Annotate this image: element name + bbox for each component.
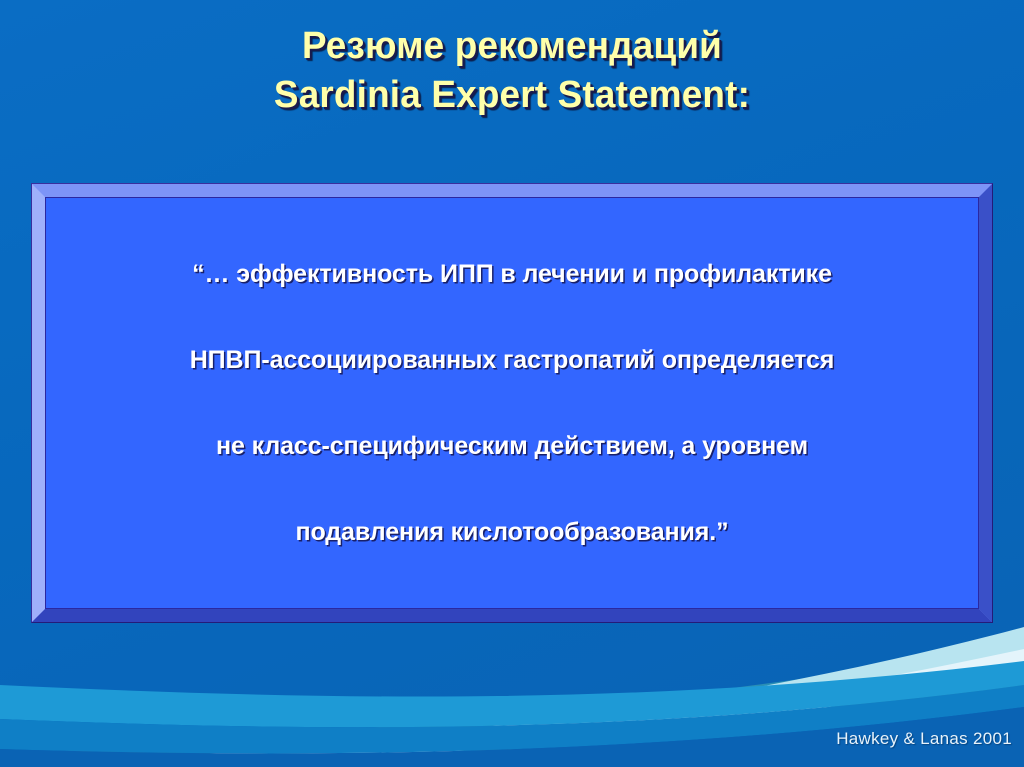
title-line-2: Sardinia Expert Statement: [15, 71, 1008, 120]
title-line-1: Резюме рекомендаций [15, 22, 1008, 71]
presentation-slide: Резюме рекомендаций Sardinia Expert Stat… [0, 0, 1024, 767]
slide-title: Резюме рекомендаций Sardinia Expert Stat… [0, 22, 1024, 120]
quote-line-3: не класс-специфическим действием, а уров… [62, 403, 962, 489]
citation-label: Hawkey & Lanas 2001 [836, 729, 1012, 749]
bevel-bottom-face [32, 609, 992, 622]
quote-line-1: “… эффективность ИПП в лечении и профила… [62, 231, 962, 317]
bevel-right-face [979, 184, 992, 622]
quote-box-inner: “… эффективность ИПП в лечении и профила… [45, 197, 979, 609]
quote-line-4: подавления кислотообразования.” [62, 489, 962, 575]
quote-box: “… эффективность ИПП в лечении и профила… [31, 183, 993, 623]
quote-text: “… эффективность ИПП в лечении и профила… [46, 231, 978, 575]
quote-line-2: НПВП-ассоциированных гастропатий определ… [62, 317, 962, 403]
bevel-left-face [32, 184, 45, 622]
bevel-top-face [32, 184, 992, 197]
